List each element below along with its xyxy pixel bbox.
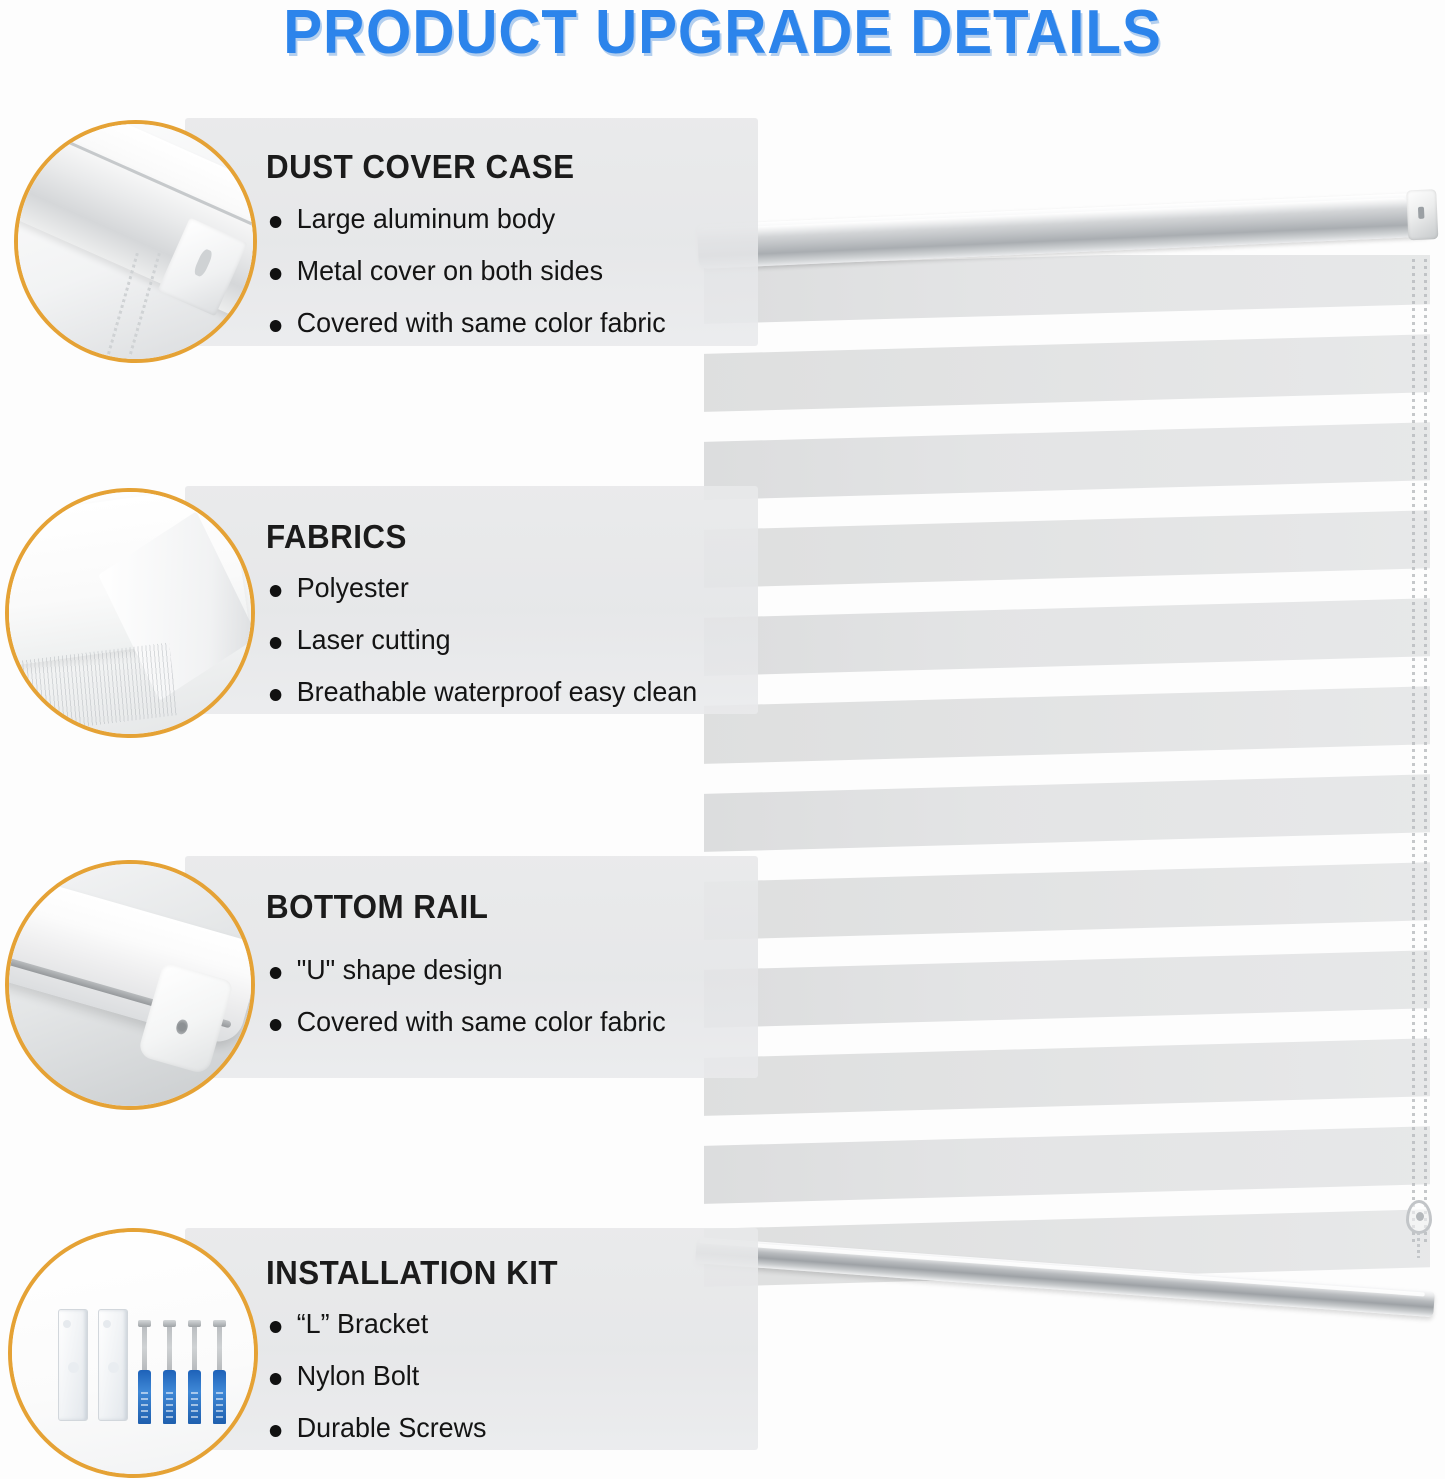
- fabric-stripe: [704, 685, 1430, 765]
- feature-bullet-list: "U" shape design Covered with same color…: [266, 954, 682, 1038]
- dust-cover-case-photo: [14, 120, 257, 363]
- feature-heading: FABRICS: [266, 518, 407, 556]
- feature-bullet: Nylon Bolt: [266, 1360, 486, 1392]
- chain-strand: [1424, 259, 1427, 1244]
- chain-strand: [1412, 259, 1415, 1244]
- headrail-end-cap: [1406, 189, 1438, 240]
- zebra-blind-product-image: [690, 195, 1445, 1335]
- feature-bullet: Durable Screws: [266, 1412, 486, 1444]
- fabric-stripe: [704, 255, 1430, 325]
- chain-tensioner: [1406, 1200, 1432, 1258]
- feature-bullet: Covered with same color fabric: [266, 1006, 666, 1038]
- feature-bullet-list: Large aluminum body Metal cover on both …: [266, 203, 682, 339]
- product-upgrade-infographic: PRODUCT UPGRADE DETAILS: [0, 0, 1445, 1479]
- fabric-stripe: [704, 773, 1430, 853]
- blind-fabric: [704, 255, 1430, 1305]
- bottom-rail-photo: [5, 860, 255, 1110]
- tensioner-chain-tail: [1417, 1232, 1420, 1258]
- fabric-stripe: [704, 509, 1430, 589]
- feature-bullet: “L” Bracket: [266, 1308, 486, 1340]
- fabric-stripe: [704, 421, 1430, 501]
- l-bracket: [98, 1309, 128, 1421]
- fabric-stripe: [704, 597, 1430, 677]
- installation-kit-photo: [8, 1228, 258, 1478]
- nylon-anchor: [163, 1370, 176, 1424]
- feature-bullet: Metal cover on both sides: [266, 255, 666, 287]
- feature-bullet: "U" shape design: [266, 954, 666, 986]
- feature-bullet-list: “L” Bracket Nylon Bolt Durable Screws: [266, 1308, 496, 1444]
- feature-heading: DUST COVER CASE: [266, 148, 574, 186]
- feature-bullet: Laser cutting: [266, 624, 697, 656]
- fabric-stripe: [704, 1125, 1430, 1205]
- feature-bullet: Breathable waterproof easy clean: [266, 676, 697, 708]
- page-title: PRODUCT UPGRADE DETAILS: [43, 0, 1401, 68]
- fabric-stripe: [704, 333, 1430, 413]
- nylon-anchor: [138, 1370, 151, 1424]
- fabric-stripe: [704, 949, 1430, 1029]
- feature-bullet: Large aluminum body: [266, 203, 666, 235]
- bead-chain: [1412, 259, 1418, 1244]
- fabric-stripe: [704, 861, 1430, 941]
- fabric-stripe: [704, 1037, 1430, 1117]
- tensioner-body: [1406, 1200, 1432, 1234]
- feature-bullet-list: Polyester Laser cutting Breathable water…: [266, 572, 715, 708]
- nylon-anchor: [213, 1370, 226, 1424]
- l-bracket: [58, 1309, 88, 1421]
- nylon-anchor: [188, 1370, 201, 1424]
- feature-heading: INSTALLATION KIT: [266, 1254, 558, 1292]
- feature-heading: BOTTOM RAIL: [266, 888, 488, 926]
- feature-bullet: Covered with same color fabric: [266, 307, 666, 339]
- feature-bullet: Polyester: [266, 572, 697, 604]
- fabrics-photo: [5, 488, 255, 738]
